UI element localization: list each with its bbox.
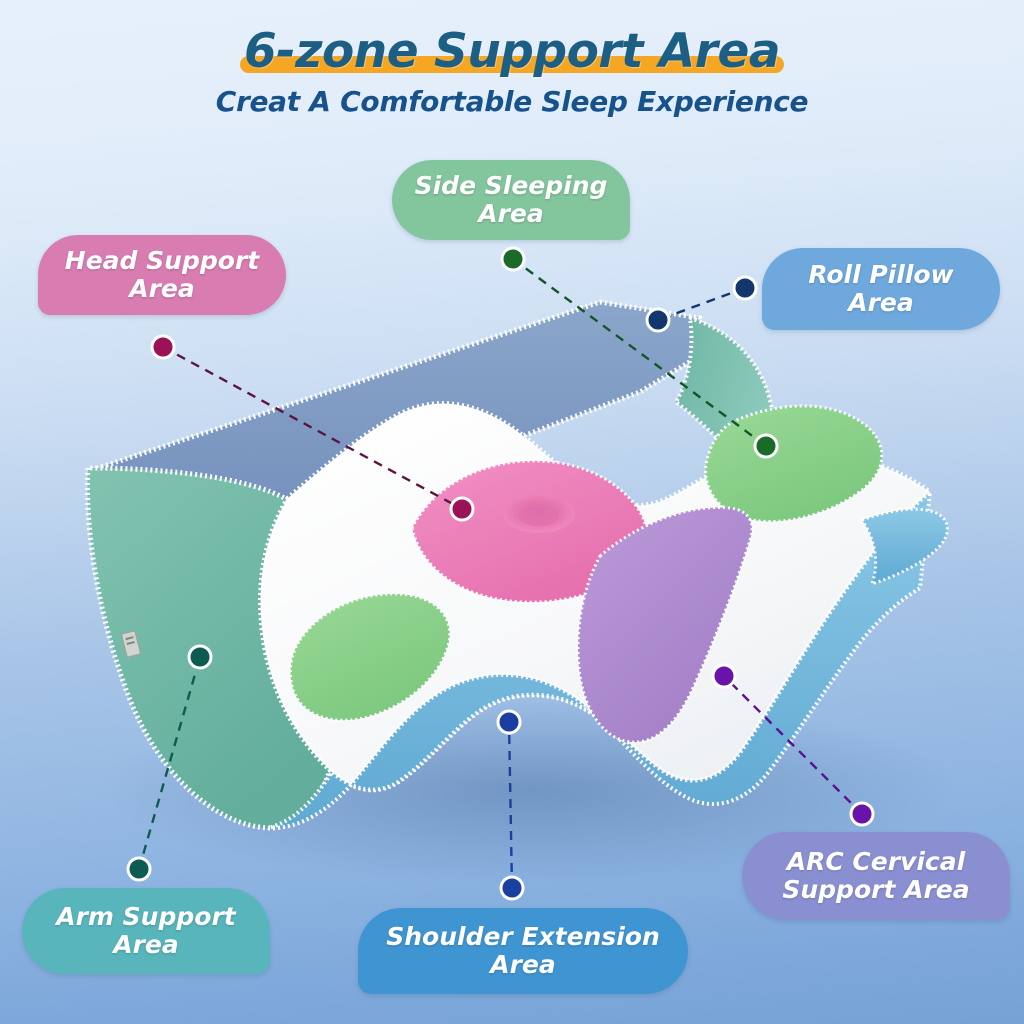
infographic-canvas: 6-zone Support Area Creat A Comfortable … [0, 0, 1024, 1024]
label-head-support-line1: Head Support [65, 246, 259, 275]
label-arm-support-area[interactable]: Arm Support Area [22, 888, 270, 974]
label-roll-pillow-area[interactable]: Roll Pillow Area [762, 248, 1000, 330]
label-arm-support-line1: Arm Support [56, 902, 235, 931]
title-wrap: 6-zone Support Area [238, 24, 786, 79]
label-arc-cervical-line2: Support Area [782, 875, 969, 904]
label-arm-support-line2: Area [113, 930, 179, 959]
head-zone-dimple-inner [519, 506, 559, 526]
label-head-support-area[interactable]: Head Support Area [38, 235, 286, 315]
label-side-sleeping-line1: Side Sleeping [415, 171, 608, 200]
label-head-support-line2: Area [129, 274, 195, 303]
label-shoulder-extension-area[interactable]: Shoulder Extension Area [358, 908, 688, 994]
label-roll-pillow-line1: Roll Pillow [808, 260, 953, 289]
label-roll-pillow-line2: Area [848, 288, 914, 317]
page-title: 6-zone Support Area [238, 24, 786, 79]
label-shoulder-extension-line2: Area [490, 950, 556, 979]
label-arc-cervical-line1: ARC Cervical [787, 847, 965, 876]
label-side-sleeping-line2: Area [478, 199, 544, 228]
label-arc-cervical-support-area[interactable]: ARC Cervical Support Area [742, 832, 1010, 920]
header: 6-zone Support Area Creat A Comfortable … [0, 0, 1024, 118]
label-side-sleeping-area[interactable]: Side Sleeping Area [392, 160, 630, 240]
page-subtitle: Creat A Comfortable Sleep Experience [0, 85, 1024, 118]
label-shoulder-extension-line1: Shoulder Extension [386, 922, 660, 951]
